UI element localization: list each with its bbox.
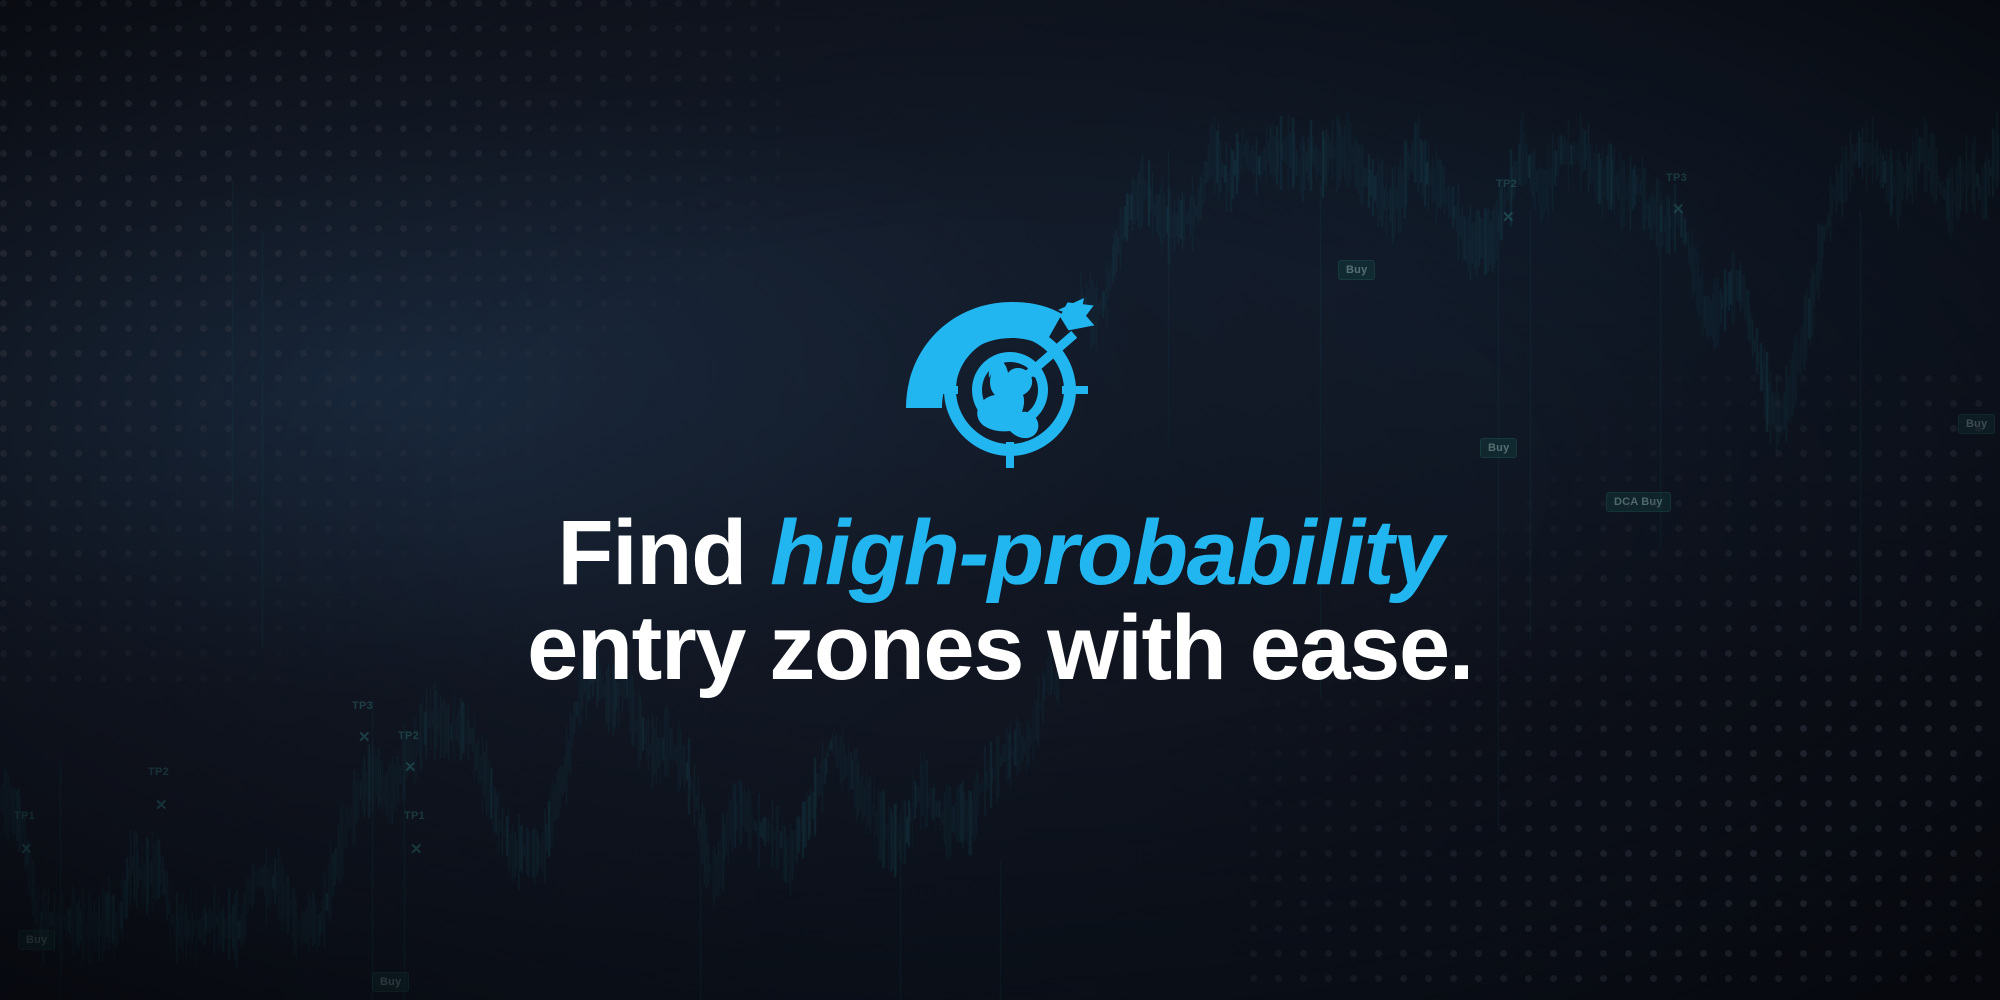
headline-line-2: entry zones with ease. bbox=[527, 601, 1473, 696]
headline-emphasis: high-probability bbox=[770, 502, 1443, 604]
hero-content: Find high-probability entry zones with e… bbox=[0, 0, 2000, 1000]
hero-banner: TP2✕TP1✕BuyTP3✕TP2✕TP1✕BuyBuyTP2✕BuyDCA … bbox=[0, 0, 2000, 1000]
headline-prefix: Find bbox=[557, 502, 770, 604]
bullseye-bull-arrow-logo bbox=[898, 296, 1102, 472]
brand-logo-wrap bbox=[898, 296, 1102, 472]
page-title: Find high-probability entry zones with e… bbox=[527, 506, 1473, 696]
headline-line-1: Find high-probability bbox=[527, 506, 1473, 601]
